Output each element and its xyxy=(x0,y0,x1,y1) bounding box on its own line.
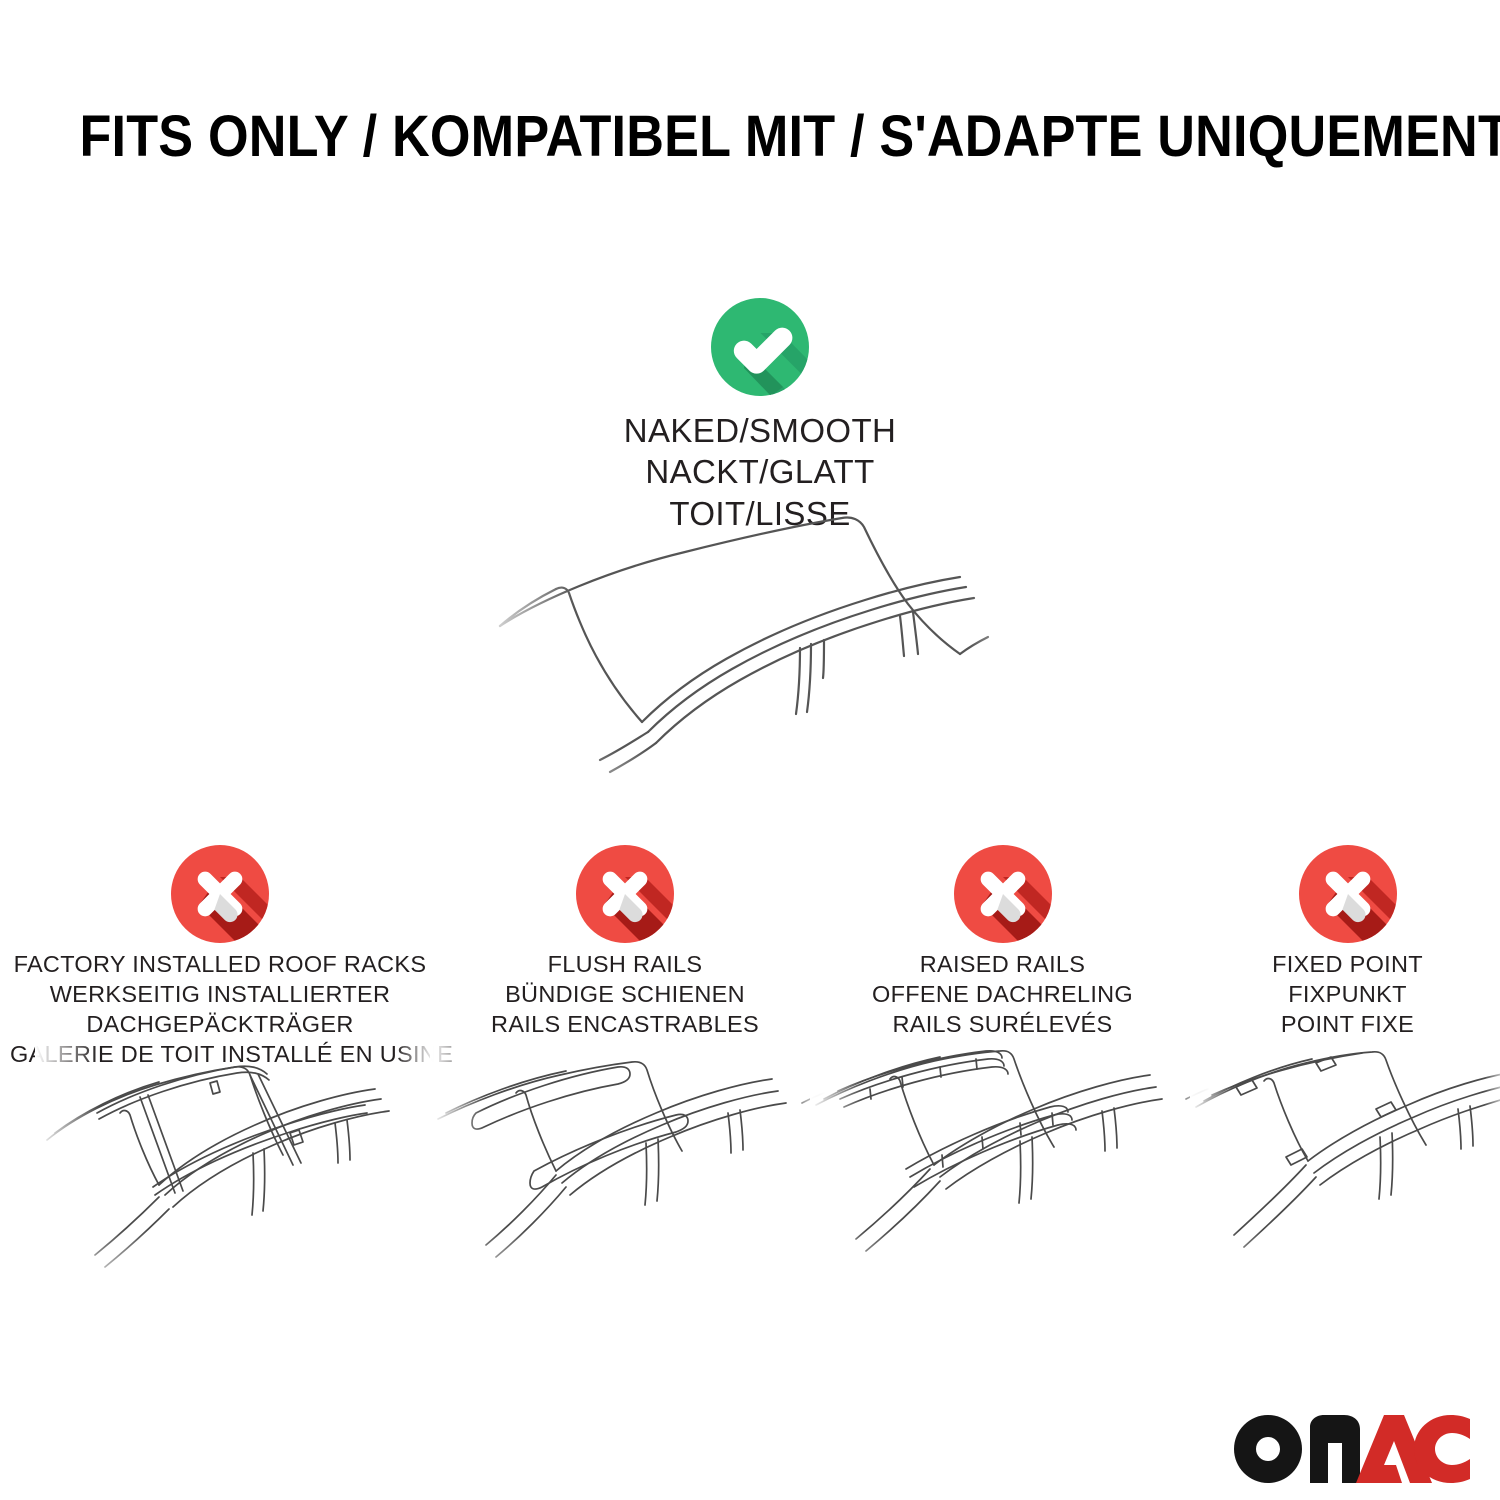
x-circle-icon xyxy=(954,845,1052,943)
caption-line-en: RAISED RAILS xyxy=(810,949,1195,979)
x-circle-icon xyxy=(171,845,269,943)
logo-letter-m xyxy=(1310,1415,1360,1483)
caption-line-en: FLUSH RAILS xyxy=(430,949,820,979)
caption-line-de: FIXPUNKT xyxy=(1195,979,1500,1009)
caption-line-fr: RAILS ENCASTRABLES xyxy=(430,1009,820,1039)
caption-line-de-2: DACHGEPÄCKTRÄGER xyxy=(10,1009,430,1039)
x-circle-icon xyxy=(576,845,674,943)
caption-line-de: BÜNDIGE SCHIENEN xyxy=(430,979,820,1009)
incompatible-roof-type-flush-rails: FLUSH RAILS BÜNDIGE SCHIENEN RAILS ENCAS… xyxy=(430,845,820,1039)
incompatible-caption: RAISED RAILS OFFENE DACHRELING RAILS SUR… xyxy=(810,949,1195,1039)
check-circle-icon xyxy=(711,298,809,396)
logo-letter-o xyxy=(1234,1415,1302,1483)
car-roof-naked-smooth-illustration xyxy=(470,500,1050,820)
caption-line-de: NACKT/GLATT xyxy=(500,451,1020,492)
page-title: FITS ONLY / KOMPATIBEL MIT / S'ADAPTE UN… xyxy=(79,103,1500,170)
caption-line-fr: POINT FIXE xyxy=(1195,1009,1500,1039)
caption-line-de-1: WERKSEITIG INSTALLIERTER xyxy=(10,979,430,1009)
compatible-roof-type: NAKED/SMOOTH NACKT/GLATT TOIT/LISSE xyxy=(500,298,1020,534)
omac-logo xyxy=(1232,1413,1470,1485)
caption-line-en: FACTORY INSTALLED ROOF RACKS xyxy=(10,949,430,979)
incompatible-roof-type-factory-racks: FACTORY INSTALLED ROOF RACKS WERKSEITIG … xyxy=(10,845,430,1069)
incompatible-roof-type-fixed-point: FIXED POINT FIXPUNKT POINT FIXE xyxy=(1195,845,1500,1039)
header: FITS ONLY / KOMPATIBEL MIT / S'ADAPTE UN… xyxy=(0,103,1500,170)
car-roof-factory-racks-illustration xyxy=(35,1045,435,1295)
incompatible-roof-type-raised-rails: RAISED RAILS OFFENE DACHRELING RAILS SUR… xyxy=(810,845,1195,1039)
car-roof-fixed-point-illustration xyxy=(1190,1045,1500,1295)
x-circle-icon xyxy=(1299,845,1397,943)
caption-line-fr: RAILS SURÉLEVÉS xyxy=(810,1009,1195,1039)
car-roof-raised-rails-illustration xyxy=(810,1045,1210,1295)
car-roof-flush-rails-illustration xyxy=(430,1045,825,1295)
caption-line-de: OFFENE DACHRELING xyxy=(810,979,1195,1009)
incompatible-caption: FLUSH RAILS BÜNDIGE SCHIENEN RAILS ENCAS… xyxy=(430,949,820,1039)
caption-line-en: FIXED POINT xyxy=(1195,949,1500,979)
incompatible-caption: FIXED POINT FIXPUNKT POINT FIXE xyxy=(1195,949,1500,1039)
caption-line-en: NAKED/SMOOTH xyxy=(500,410,1020,451)
